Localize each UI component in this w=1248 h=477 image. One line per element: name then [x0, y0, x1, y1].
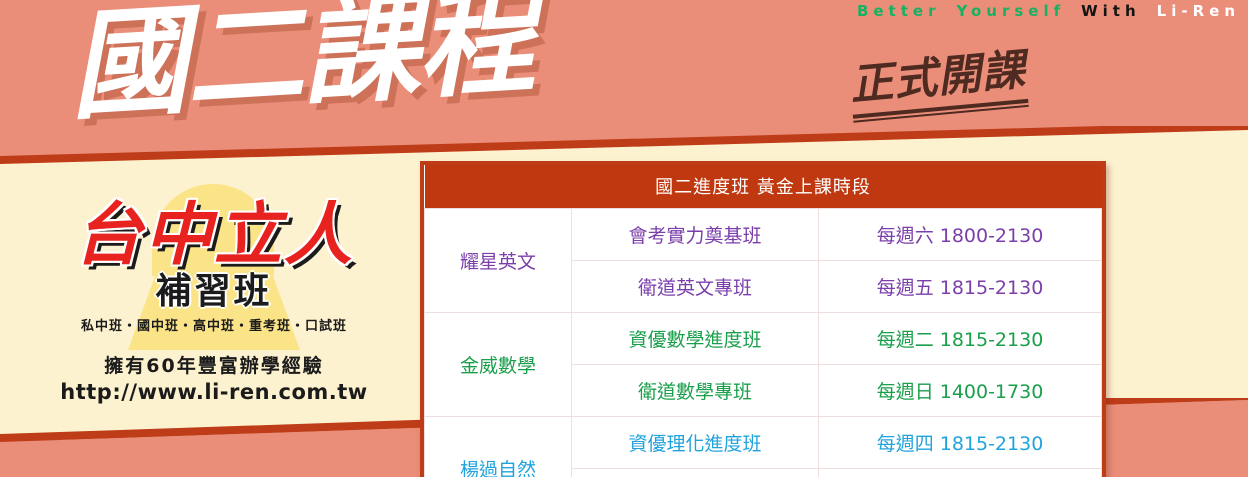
subject-cell: 耀星英文 [425, 209, 572, 313]
table-header-row: 國二進度班 黃金上課時段 [425, 165, 1102, 209]
subject-cell: 金威數學 [425, 313, 572, 417]
table-row: 楊過自然資優理化進度班每週四 1815-2130 [425, 417, 1102, 469]
tagline-word-better: Better [857, 2, 941, 20]
course-name-cell: 衛道數學專班 [572, 365, 819, 417]
class-time-cell: 每週二 1815-2130 [819, 313, 1102, 365]
class-time-cell: 每週日 0900-1230 [819, 469, 1102, 477]
course-promo-banner: BetterYourselfWithLi-Ren 國二課程 正式開課 台中立人 … [0, 0, 1248, 477]
brand-experience: 擁有60年豐富辦學經驗 [24, 351, 404, 378]
subject-cell: 楊過自然 [425, 417, 572, 477]
course-name-cell: 會考實力奠基班 [572, 209, 819, 261]
page-title: 國二課程 [66, 0, 536, 126]
tagline: BetterYourselfWithLi-Ren [857, 2, 1240, 20]
tagline-word-liren: Li-Ren [1157, 2, 1240, 20]
class-time-cell: 每週日 1400-1730 [819, 365, 1102, 417]
course-name-cell: 衛道自然專班 [572, 469, 819, 477]
schedule-table-container: 國二進度班 黃金上課時段 耀星英文會考實力奠基班每週六 1800-2130衛道英… [420, 161, 1106, 477]
brand-logo-block: 台中立人 補習班 私中班・國中班・高中班・重考班・口試班 擁有60年豐富辦學經驗… [24, 186, 404, 416]
brand-class-types: 私中班・國中班・高中班・重考班・口試班 [24, 315, 404, 334]
schedule-table-body: 耀星英文會考實力奠基班每週六 1800-2130衛道英文專班每週五 1815-2… [425, 209, 1102, 477]
tagline-word-yourself: Yourself [956, 2, 1065, 20]
class-time-cell: 每週六 1800-2130 [819, 209, 1102, 261]
tagline-word-with: With [1081, 2, 1141, 20]
class-time-cell: 每週四 1815-2130 [819, 417, 1102, 469]
course-name-cell: 資優數學進度班 [572, 313, 819, 365]
table-row: 耀星英文會考實力奠基班每週六 1800-2130 [425, 209, 1102, 261]
class-time-cell: 每週五 1815-2130 [819, 261, 1102, 313]
course-name-cell: 衛道英文專班 [572, 261, 819, 313]
table-row: 金威數學資優數學進度班每週二 1815-2130 [425, 313, 1102, 365]
course-name-cell: 資優理化進度班 [572, 417, 819, 469]
schedule-title: 國二進度班 黃金上課時段 [425, 165, 1102, 209]
brand-name-main: 台中立人 [24, 202, 404, 270]
brand-website-url[interactable]: http://www.li-ren.com.tw [24, 380, 404, 404]
brand-name-sub: 補習班 [24, 274, 404, 310]
schedule-table: 國二進度班 黃金上課時段 耀星英文會考實力奠基班每週六 1800-2130衛道英… [424, 165, 1102, 477]
